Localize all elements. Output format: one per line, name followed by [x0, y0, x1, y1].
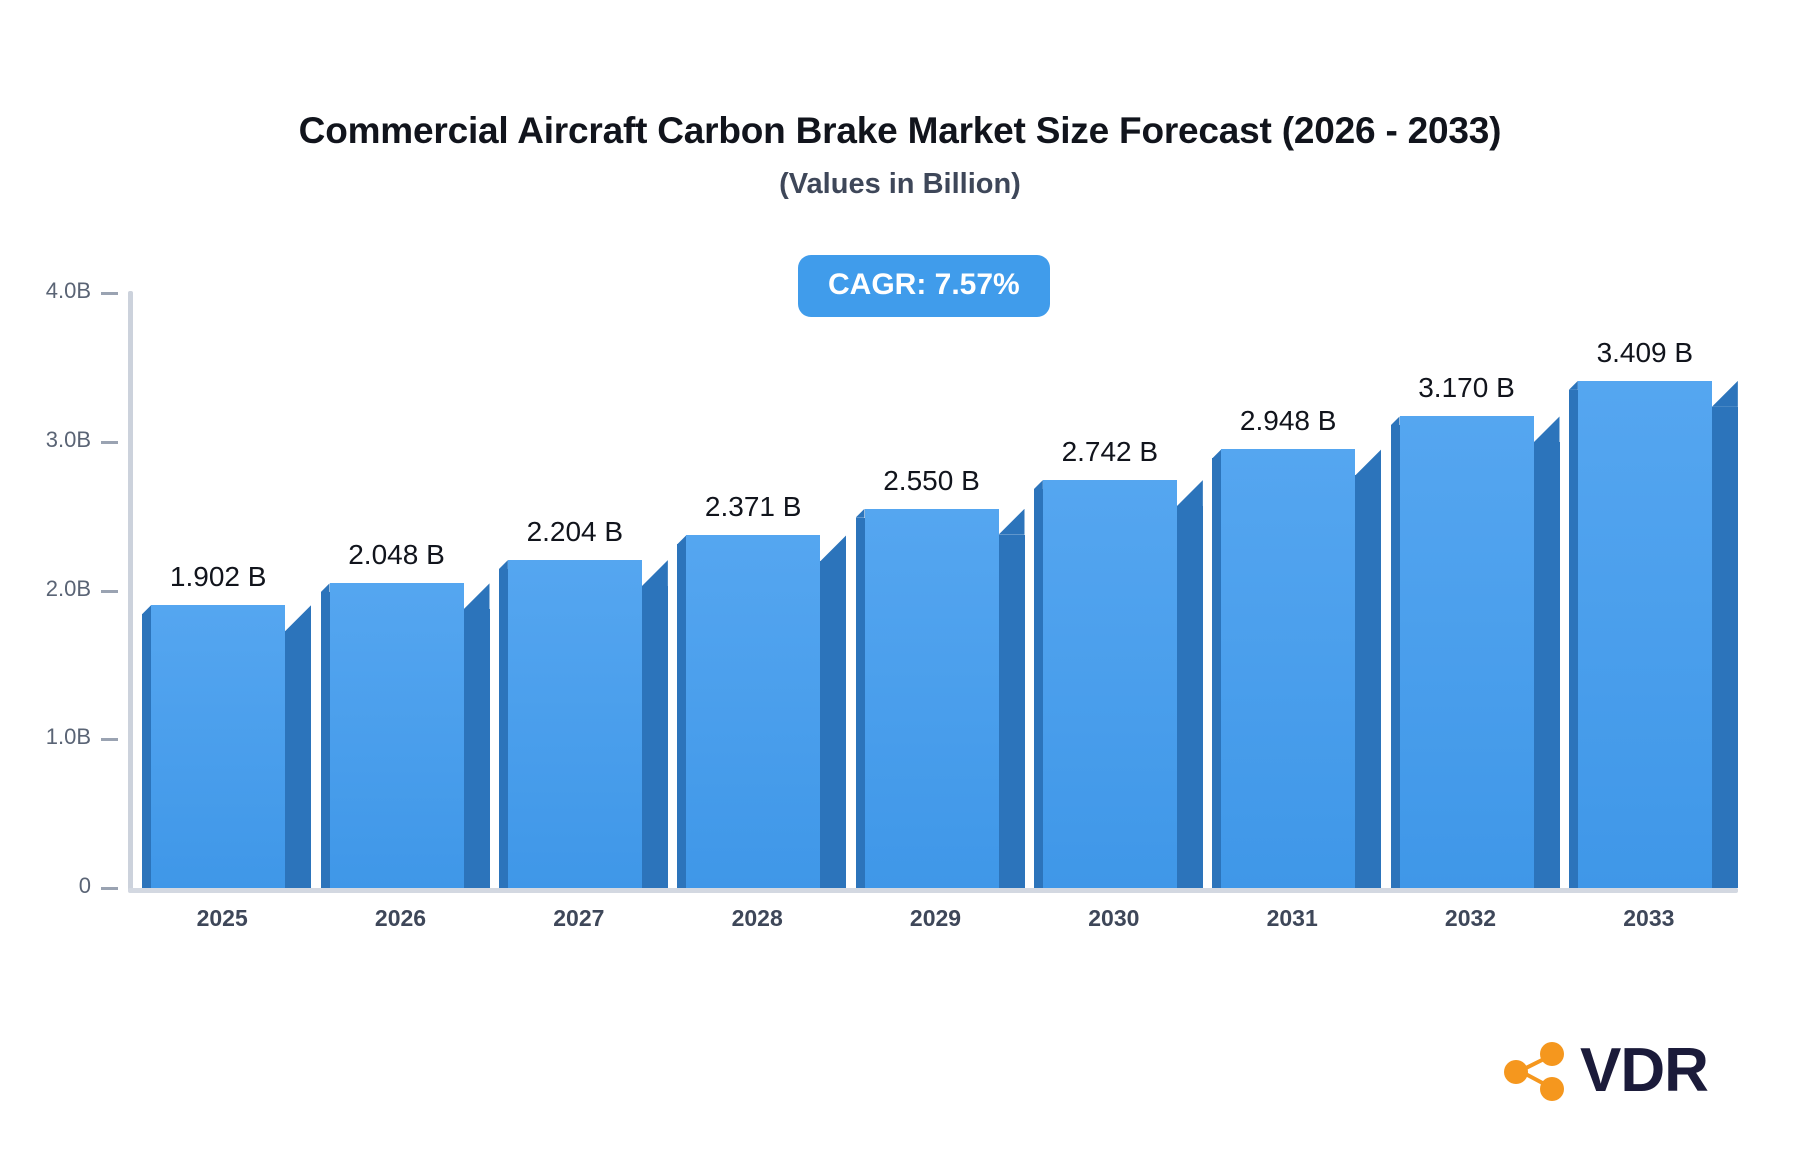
bar-left-face	[856, 518, 865, 888]
y-axis-tick	[101, 292, 118, 295]
y-axis-label: 4.0B	[0, 278, 91, 304]
bar-left-face	[321, 592, 330, 888]
bar-left-face	[1212, 458, 1221, 888]
bar-left-face	[1569, 390, 1578, 888]
bar-front-face	[508, 560, 642, 888]
bar-value-label: 3.170 B	[1360, 372, 1574, 404]
y-axis-tick	[101, 887, 118, 890]
x-axis-label: 2025	[133, 905, 311, 932]
bar-top-bevel	[464, 583, 490, 609]
bar-side-face	[1534, 442, 1560, 888]
bar-value-label: 3.409 B	[1538, 337, 1752, 369]
x-axis-label: 2030	[1025, 905, 1203, 932]
y-axis-tick	[101, 441, 118, 444]
x-axis-label: 2031	[1203, 905, 1381, 932]
bar-top-bevel	[1534, 416, 1560, 442]
y-axis-label: 1.0B	[0, 724, 91, 750]
bar-front-face	[865, 509, 999, 888]
bar-front-face	[1221, 449, 1355, 888]
bar-left-face	[1391, 425, 1400, 888]
bar-left-face	[142, 614, 151, 888]
bar[interactable]	[508, 560, 642, 888]
bar[interactable]	[1578, 381, 1712, 888]
y-axis-label: 2.0B	[0, 576, 91, 602]
x-axis-label: 2026	[311, 905, 489, 932]
bar-left-face	[499, 569, 508, 888]
bar[interactable]	[330, 583, 464, 888]
x-axis-line	[128, 888, 1738, 893]
plot-area: 01.0B2.0B3.0B4.0B 1.902 B2.048 B2.204 B2…	[0, 0, 1800, 1156]
x-axis-label: 2033	[1560, 905, 1738, 932]
bar-top-bevel	[1355, 449, 1381, 475]
bar[interactable]	[1043, 480, 1177, 888]
bar[interactable]	[686, 535, 820, 888]
bar-top-bevel	[642, 560, 668, 586]
bar-side-face	[285, 631, 311, 888]
bar[interactable]	[1221, 449, 1355, 888]
x-axis-label: 2029	[846, 905, 1024, 932]
bar-side-face	[820, 561, 846, 888]
share-network-icon	[1500, 1040, 1572, 1102]
bar-top-bevel	[285, 605, 311, 631]
bar-value-label: 2.742 B	[1003, 436, 1217, 468]
vdr-logo: VDR	[1500, 1040, 1708, 1102]
bar[interactable]	[865, 509, 999, 888]
bar[interactable]	[151, 605, 285, 888]
y-axis-label: 3.0B	[0, 427, 91, 453]
bar-left-bevel	[142, 605, 151, 614]
bar-top-bevel	[1712, 381, 1738, 407]
bar-front-face	[1043, 480, 1177, 888]
x-axis-label: 2028	[668, 905, 846, 932]
x-axis-label: 2032	[1381, 905, 1559, 932]
bar-left-face	[1034, 489, 1043, 888]
bar-side-face	[642, 586, 668, 888]
bar-side-face	[464, 609, 490, 888]
bar-value-label: 2.948 B	[1181, 405, 1395, 437]
bar-front-face	[151, 605, 285, 888]
bar-side-face	[1177, 506, 1203, 888]
logo-text: VDR	[1580, 1040, 1708, 1102]
bar-front-face	[1578, 381, 1712, 888]
y-axis-tick	[101, 738, 118, 741]
bar-top-bevel	[999, 509, 1025, 535]
bar-front-face	[330, 583, 464, 888]
bar-top-bevel	[820, 535, 846, 561]
bar-side-face	[1712, 407, 1738, 888]
bar-front-face	[686, 535, 820, 888]
bar-front-face	[1400, 416, 1534, 888]
bar-side-face	[1355, 475, 1381, 888]
bar-value-label: 2.550 B	[825, 465, 1039, 497]
bar-left-face	[677, 544, 686, 888]
bar-side-face	[999, 535, 1025, 888]
bar-top-bevel	[1177, 480, 1203, 506]
y-axis-label: 0	[0, 873, 91, 899]
bar[interactable]	[1400, 416, 1534, 888]
chart-canvas: Commercial Aircraft Carbon Brake Market …	[0, 0, 1800, 1156]
x-axis-label: 2027	[490, 905, 668, 932]
